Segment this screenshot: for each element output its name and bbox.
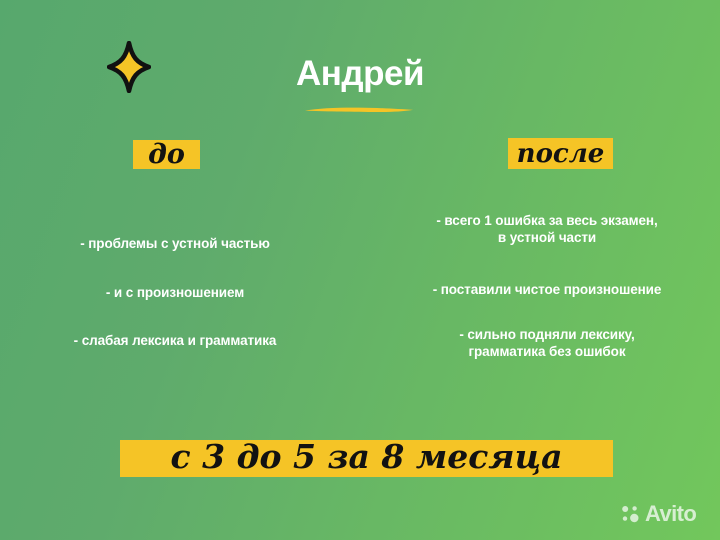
label-chip-after-text: после xyxy=(517,139,605,169)
list-item: - слабая лексика и грамматика xyxy=(10,332,340,349)
avito-watermark: Avito xyxy=(620,503,696,525)
label-chip-after: после xyxy=(508,138,613,169)
label-chip-before-text: до xyxy=(148,139,185,170)
slide-canvas: Андрей до после - проблемы с устной част… xyxy=(0,0,720,540)
list-item: - поставили чистое произношение xyxy=(382,281,712,298)
avito-dots-icon xyxy=(620,504,641,525)
label-chip-before: до xyxy=(133,140,200,169)
list-item: - проблемы с устной частью xyxy=(10,235,340,252)
list-item: - всего 1 ошибка за весь экзамен, в устн… xyxy=(382,212,712,246)
list-item: - сильно подняли лексику, грамматика без… xyxy=(382,326,712,360)
avito-wordmark: Avito xyxy=(645,503,696,525)
result-banner-text: с 3 до 5 за 8 месяца xyxy=(120,434,613,480)
list-item: - и с произношением xyxy=(10,284,340,301)
brush-underline-icon xyxy=(303,101,415,110)
page-title: Андрей xyxy=(0,56,720,91)
